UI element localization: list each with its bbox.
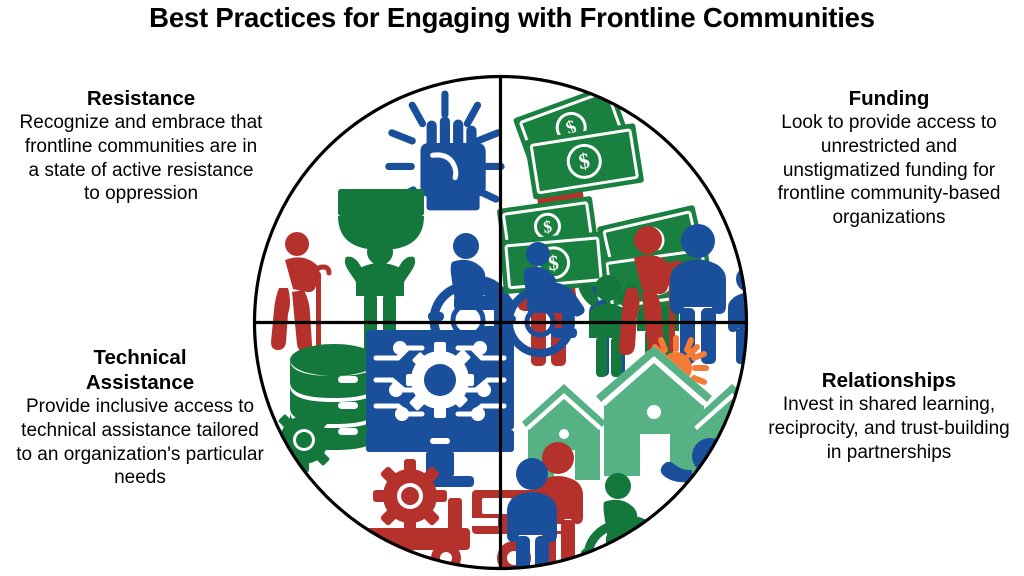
technical-heading-line1: Technical <box>14 345 266 370</box>
quadrant-circle-diagram: $ $ <box>252 74 749 571</box>
elder-with-cane-icon <box>271 232 329 352</box>
resistance-body: Recognize and embrace that frontline com… <box>18 111 264 206</box>
technical-heading-line2: Assistance <box>14 370 266 395</box>
funding-heading: Funding <box>762 86 1016 111</box>
funding-body: Look to provide access to unrestricted a… <box>762 111 1016 230</box>
relationships-body: Invest in shared learning, reciprocity, … <box>762 393 1016 464</box>
gear-icon <box>272 408 336 472</box>
quadrant-label-technical-assistance: Technical Assistance Provide inclusive a… <box>14 345 266 490</box>
family-group-icon <box>670 224 830 364</box>
standing-person-icon <box>840 250 890 373</box>
page-title: Best Practices for Engaging with Frontli… <box>0 2 1024 34</box>
quadrant-label-resistance: Resistance Recognize and embrace that fr… <box>18 86 264 206</box>
dollar-bills-icon: $ $ <box>513 83 645 199</box>
infographic-canvas: Best Practices for Engaging with Frontli… <box>0 0 1024 576</box>
resistance-heading: Resistance <box>18 86 264 111</box>
technical-body: Provide inclusive access to technical as… <box>14 395 266 490</box>
relationships-heading: Relationships <box>762 368 1016 393</box>
gear-icon <box>373 459 447 533</box>
quadrant-label-funding: Funding Look to provide access to unrest… <box>762 86 1016 230</box>
wheelchair-user-icon <box>581 473 667 576</box>
quadrant-label-relationships: Relationships Invest in shared learning,… <box>762 368 1016 464</box>
person-pair-icon <box>507 442 583 576</box>
database-gear-icon <box>272 344 378 472</box>
quadrant-art-relationships <box>507 338 774 576</box>
computer-gear-circuit-icon <box>366 330 514 487</box>
